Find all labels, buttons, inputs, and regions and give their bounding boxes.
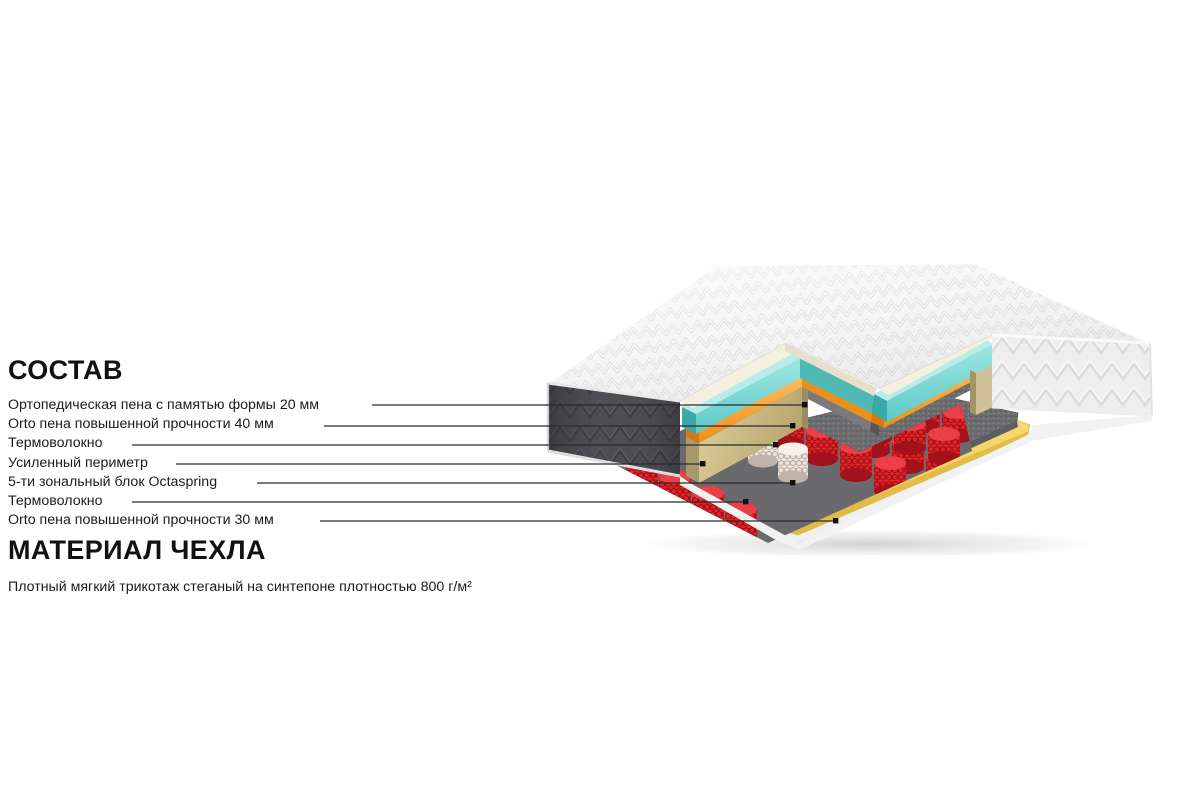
composition-list: Ортопедическая пена с памятью формы 20 м… xyxy=(8,396,528,530)
composition-item-label: Термоволокно xyxy=(8,434,103,453)
composition-item-label: Термоволокно xyxy=(8,492,103,511)
side-panel-right-light xyxy=(992,335,1152,415)
page-title-composition: СОСТАВ xyxy=(8,355,123,386)
diagram-canvas: СОСТАВ Ортопедическая пена с памятью фор… xyxy=(0,0,1191,794)
mattress-cutaway-illustration xyxy=(540,255,1191,555)
page-title-cover-material: МАТЕРИАЛ ЧЕХЛА xyxy=(8,535,266,566)
list-item: Orto пена повышенной прочности 30 мм xyxy=(8,511,528,530)
cover-material-description: Плотный мягкий трикотаж стеганый на синт… xyxy=(8,578,472,597)
mattress-shadow xyxy=(620,528,1120,555)
side-panel-front-dark xyxy=(548,383,680,476)
composition-item-label: Усиленный периметр xyxy=(8,454,148,473)
list-item: Усиленный периметр xyxy=(8,454,528,473)
composition-item-label: 5-ти зональный блок Octaspring xyxy=(8,473,217,492)
composition-item-label: Ортопедическая пена с памятью формы 20 м… xyxy=(8,396,319,415)
list-item: Термоволокно xyxy=(8,434,528,453)
list-item: Ортопедическая пена с памятью формы 20 м… xyxy=(8,396,528,415)
composition-item-label: Orto пена повышенной прочности 40 мм xyxy=(8,415,274,434)
list-item: Orto пена повышенной прочности 40 мм xyxy=(8,415,528,434)
composition-item-label: Orto пена повышенной прочности 30 мм xyxy=(8,511,274,530)
reinforced-perimeter-right xyxy=(976,365,993,415)
list-item: 5-ти зональный блок Octaspring xyxy=(8,473,528,492)
list-item: Термоволокно xyxy=(8,492,528,511)
